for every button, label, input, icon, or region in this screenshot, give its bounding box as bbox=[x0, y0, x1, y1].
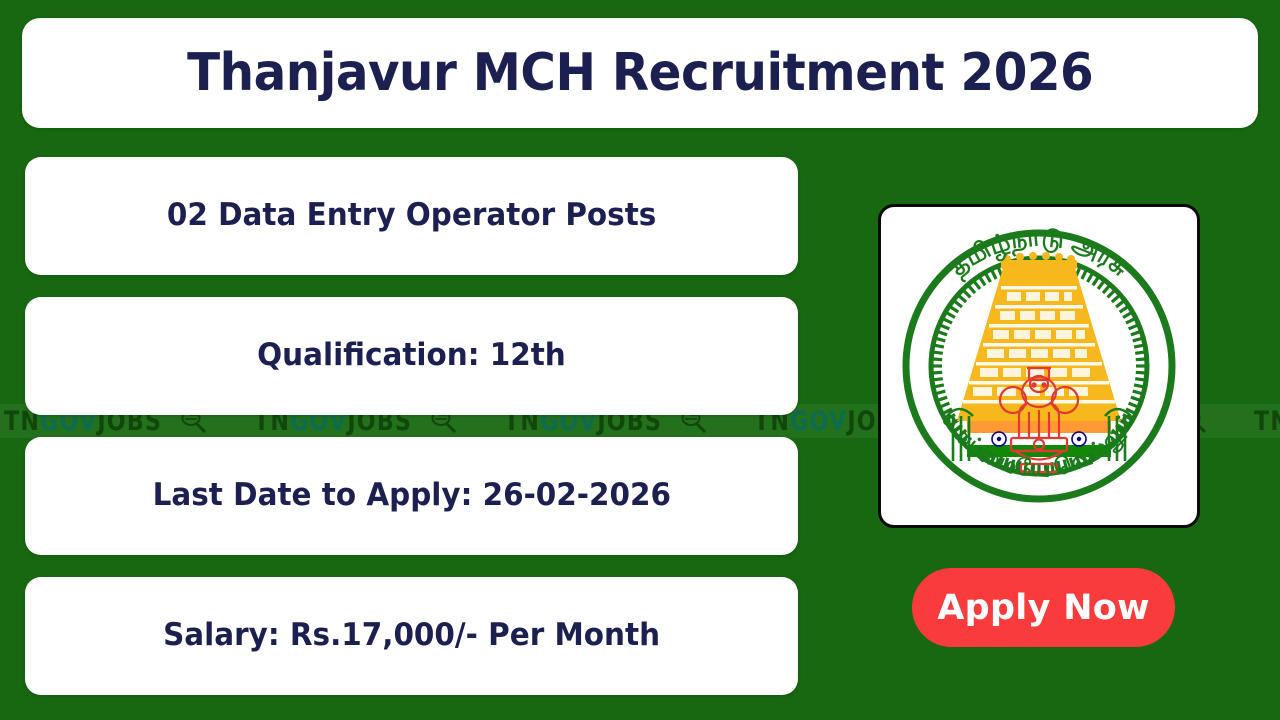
recruitment-poster: TNGOVJOBSTNGOVJOBSTNGOVJOBSTNGOVJOBSTNGO… bbox=[0, 0, 1280, 720]
apply-now-button[interactable]: Apply Now bbox=[912, 568, 1175, 647]
watermark-gov: GOV bbox=[790, 406, 847, 437]
emblem-container: தமிழ்நாடு அரசு வாய்மையே வெல்லும் bbox=[878, 204, 1200, 528]
watermark-tn: TN bbox=[1254, 406, 1280, 437]
watermark-tile: TNGOVJOBS bbox=[1250, 404, 1280, 438]
detail-card-list: 02 Data Entry Operator Posts Qualificati… bbox=[25, 157, 798, 695]
tamil-nadu-government-emblem-icon: தமிழ்நாடு அரசு வாய்மையே வெல்லும் bbox=[889, 216, 1189, 516]
page-title: Thanjavur MCH Recruitment 2026 bbox=[187, 43, 1093, 103]
detail-card-posts: 02 Data Entry Operator Posts bbox=[25, 157, 798, 275]
detail-text-qualification: Qualification: 12th bbox=[257, 338, 566, 374]
detail-card-salary: Salary: Rs.17,000/- Per Month bbox=[25, 577, 798, 695]
detail-card-qualification: Qualification: 12th bbox=[25, 297, 798, 415]
detail-text-salary: Salary: Rs.17,000/- Per Month bbox=[163, 618, 660, 654]
detail-text-posts: 02 Data Entry Operator Posts bbox=[167, 198, 656, 234]
detail-card-last-date: Last Date to Apply: 26-02-2026 bbox=[25, 437, 798, 555]
page-title-card: Thanjavur MCH Recruitment 2026 bbox=[22, 18, 1258, 128]
detail-text-last-date: Last Date to Apply: 26-02-2026 bbox=[152, 478, 670, 514]
